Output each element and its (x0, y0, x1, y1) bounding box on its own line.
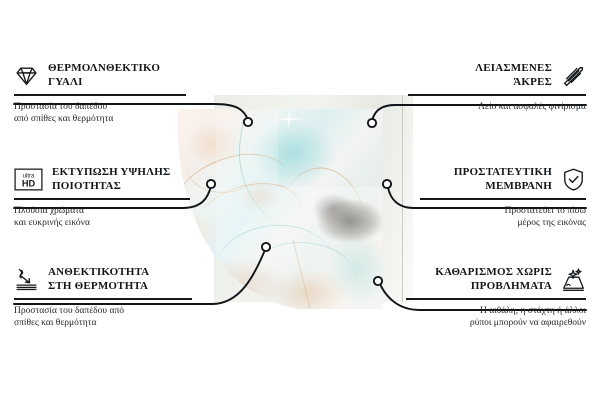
svg-text:HD: HD (22, 179, 36, 189)
polished-edges-icon (561, 63, 586, 88)
feature-heat: ΑΝΘΕΚΤΙΚΟΤΗΤΑ ΣΤΗ ΘΕΡΜΟΤΗΤΑ Προστασία το… (14, 266, 192, 329)
feature-heat-header: ΑΝΘΕΚΤΙΚΟΤΗΤΑ ΣΤΗ ΘΕΡΜΟΤΗΤΑ (14, 266, 192, 293)
feature-print-header: ultra HD ΕΚΤΥΠΩΣΗ ΥΨΗΛΗΣ ΠΟΙΟΤΗΤΑΣ (14, 166, 190, 193)
feature-edges-title: ΛΕΙΑΣΜΕΝΕΣ ΆΚΡΕΣ (475, 62, 552, 89)
diamond-icon (14, 63, 39, 88)
divider (406, 298, 586, 300)
feature-glass-title: ΘΕΡΜΟΛΝΘΕΚΤΙΚΟ ΓΥΑΛΙ (48, 62, 160, 89)
feature-print-title: ΕΚΤΥΠΩΣΗ ΥΨΗΛΗΣ ΠΟΙΟΤΗΤΑΣ (52, 166, 170, 193)
feature-membrane-title: ΠΡΟΣΤΑΤΕΥΤΙΚΗ ΜΕΜΒΡΑΝΗ (454, 166, 552, 193)
feature-clean-title: ΚΑΘΑΡΙΣΜΟΣ ΧΩΡΙΣ ΠΡΟΒΛΗΜΑΤΑ (435, 266, 552, 293)
feature-heat-title: ΑΝΘΕΚΤΙΚΟΤΗΤΑ ΣΤΗ ΘΕΡΜΟΤΗΤΑ (48, 266, 149, 293)
feature-clean-sub-2: ρύποι μπορούν να αφαιρεθούν (406, 317, 586, 329)
divider (14, 298, 192, 300)
divider (14, 94, 186, 96)
feature-membrane: ΠΡΟΣΤΑΤΕΥΤΙΚΗ ΜΕΜΒΡΑΝΗ Προστατεύει το πί… (420, 166, 586, 229)
connector-dot (374, 277, 382, 285)
feature-glass: ΘΕΡΜΟΛΝΘΕΚΤΙΚΟ ΓΥΑΛΙ Προστασία του δαπέδ… (14, 62, 186, 125)
feature-glass-header: ΘΕΡΜΟΛΝΘΕΚΤΙΚΟ ΓΥΑΛΙ (14, 62, 186, 89)
divider (408, 94, 586, 96)
connector-dot (383, 180, 391, 188)
easy-clean-sparkle-icon (561, 267, 586, 292)
infographic-canvas: ΘΕΡΜΟΛΝΘΕΚΤΙΚΟ ΓΥΑΛΙ Προστασία του δαπέδ… (0, 0, 600, 400)
divider (420, 198, 586, 200)
feature-clean: ΚΑΘΑΡΙΣΜΟΣ ΧΩΡΙΣ ΠΡΟΒΛΗΜΑΤΑ Η αιθάλη, η … (406, 266, 586, 329)
divider (14, 198, 190, 200)
feature-print-sub-1: Πλούσια χρώματα (14, 205, 190, 217)
connector-dot (262, 243, 270, 251)
feature-clean-sub-1: Η αιθάλη, η στάχτη ή άλλοι (406, 305, 586, 317)
feature-glass-sub-2: από σπίθες και θερμότητα (14, 113, 186, 125)
feature-membrane-sub-1: Προστατεύει το πίσω (420, 205, 586, 217)
feature-glass-sub-1: Προστασία του δαπέδου (14, 101, 186, 113)
ultra-hd-icon: ultra HD (14, 168, 43, 191)
shield-check-icon (561, 167, 586, 192)
feature-edges-sub-1: Λείο και ασφαλές φινίρισμα (408, 101, 586, 113)
connector-dot (244, 118, 252, 126)
feature-membrane-header: ΠΡΟΣΤΑΤΕΥΤΙΚΗ ΜΕΜΒΡΑΝΗ (420, 166, 586, 193)
feature-heat-sub-2: σπίθες και θερμότητα (14, 317, 192, 329)
feature-heat-sub-1: Προστασία του δαπέδου από (14, 305, 192, 317)
feature-edges-header: ΛΕΙΑΣΜΕΝΕΣ ΆΚΡΕΣ (408, 62, 586, 89)
feature-print-sub-2: και ευκρινής εικόνα (14, 217, 190, 229)
feature-clean-header: ΚΑΘΑΡΙΣΜΟΣ ΧΩΡΙΣ ΠΡΟΒΛΗΜΑΤΑ (406, 266, 586, 293)
feature-edges: ΛΕΙΑΣΜΕΝΕΣ ΆΚΡΕΣ Λείο και ασφαλές φινίρι… (408, 62, 586, 113)
connector-dot (368, 119, 376, 127)
feature-membrane-sub-2: μέρος της εικόνας (420, 217, 586, 229)
connector-dot (207, 180, 215, 188)
heat-resistant-icon (14, 267, 39, 292)
feature-print: ultra HD ΕΚΤΥΠΩΣΗ ΥΨΗΛΗΣ ΠΟΙΟΤΗΤΑΣ Πλούσ… (14, 166, 190, 229)
